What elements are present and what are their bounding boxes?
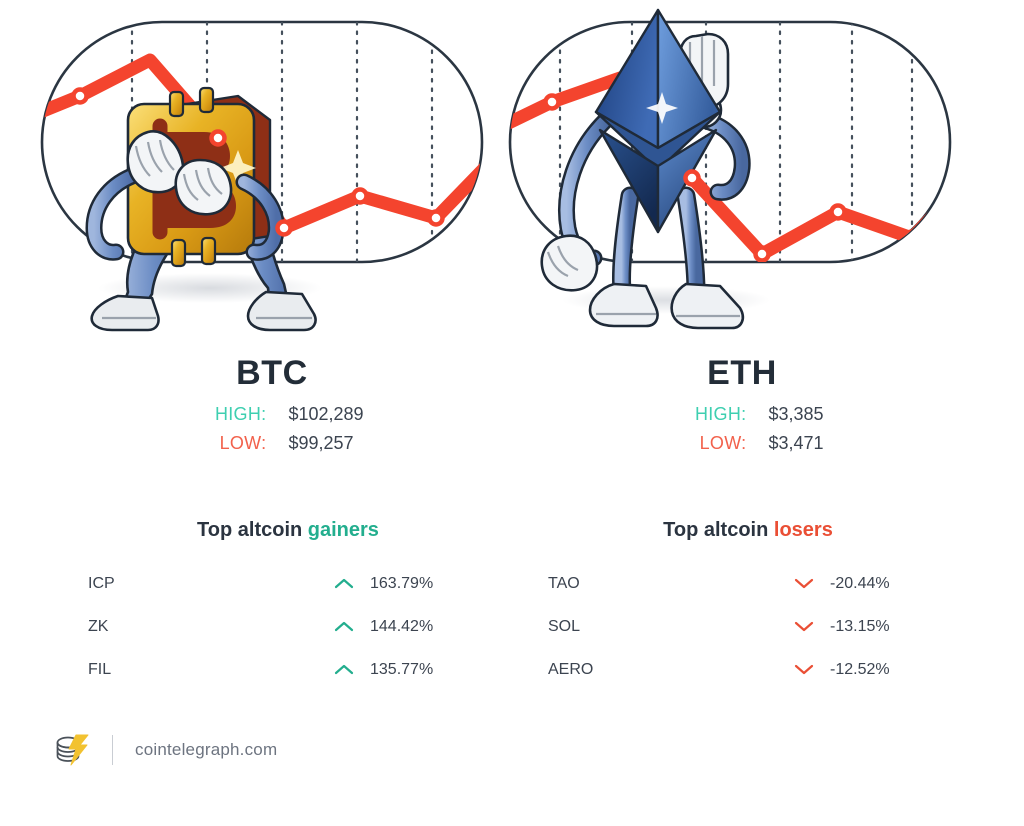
- cointelegraph-logo-icon[interactable]: [52, 732, 92, 768]
- gainer-change: 135.77%: [370, 661, 488, 679]
- loser-change: -13.15%: [830, 618, 948, 636]
- gainers-list: ICP 163.79% ZK 144.42%: [88, 562, 488, 691]
- list-item[interactable]: FIL 135.77%: [88, 648, 488, 691]
- chevron-up-icon: [318, 663, 370, 676]
- btc-low-value: $99,257: [266, 433, 353, 454]
- loser-change: -20.44%: [830, 575, 948, 593]
- altcoin-row: Top altcoin gainers ICP 163.79% ZK: [0, 520, 1024, 700]
- eth-chart-svg: [500, 0, 960, 352]
- gainers-heading-accent: gainers: [308, 519, 379, 541]
- top-altcoin-gainers: Top altcoin gainers ICP 163.79% ZK: [88, 520, 488, 691]
- btc-chart-svg: [32, 0, 492, 352]
- footer-url[interactable]: cointelegraph.com: [135, 740, 277, 760]
- btc-low-row: LOW: $99,257: [180, 433, 363, 462]
- loser-ticker: SOL: [548, 618, 778, 636]
- btc-low-label: LOW:: [180, 433, 266, 454]
- gainer-ticker: FIL: [88, 661, 318, 679]
- eth-high-label: HIGH:: [660, 404, 746, 425]
- btc-high-value: $102,289: [266, 404, 363, 425]
- list-item[interactable]: ICP 163.79%: [88, 562, 488, 605]
- list-item[interactable]: ZK 144.42%: [88, 605, 488, 648]
- gainers-heading: Top altcoin gainers: [88, 520, 488, 540]
- coin-summary-row: BTC HIGH: $102,289 LOW: $99,257 ETH HIGH…: [0, 356, 1024, 486]
- btc-high-label: HIGH:: [180, 404, 266, 425]
- btc-high-row: HIGH: $102,289: [180, 404, 363, 433]
- top-altcoin-losers: Top altcoin losers TAO -20.44% SOL: [548, 520, 948, 691]
- infographic-page: BTC HIGH: $102,289 LOW: $99,257 ETH HIGH…: [0, 0, 1024, 826]
- eth-high-low-table: HIGH: $3,385 LOW: $3,471: [660, 404, 823, 462]
- footer-divider: [112, 735, 113, 765]
- eth-low-value: $3,471: [746, 433, 823, 454]
- chevron-up-icon: [318, 620, 370, 633]
- eth-high-value: $3,385: [746, 404, 823, 425]
- eth-low-label: LOW:: [660, 433, 746, 454]
- list-item[interactable]: SOL -13.15%: [548, 605, 948, 648]
- eth-high-row: HIGH: $3,385: [660, 404, 823, 433]
- chevron-down-icon: [778, 577, 830, 590]
- eth-summary: ETH HIGH: $3,385 LOW: $3,471: [512, 356, 972, 462]
- eth-chart-panel: [500, 0, 960, 352]
- charts-row: [0, 0, 1024, 352]
- gainer-ticker: ICP: [88, 575, 318, 593]
- losers-list: TAO -20.44% SOL -13.15%: [548, 562, 948, 691]
- gainer-ticker: ZK: [88, 618, 318, 636]
- gainer-change: 144.42%: [370, 618, 488, 636]
- btc-chart-panel: [32, 0, 492, 352]
- chevron-down-icon: [778, 620, 830, 633]
- losers-heading-accent: losers: [774, 519, 833, 541]
- loser-change: -12.52%: [830, 661, 948, 679]
- chevron-up-icon: [318, 577, 370, 590]
- btc-high-low-table: HIGH: $102,289 LOW: $99,257: [180, 404, 363, 462]
- losers-heading: Top altcoin losers: [548, 520, 948, 540]
- btc-title: BTC: [42, 356, 502, 390]
- list-item[interactable]: AERO -12.52%: [548, 648, 948, 691]
- btc-summary: BTC HIGH: $102,289 LOW: $99,257: [42, 356, 502, 462]
- gainer-change: 163.79%: [370, 575, 488, 593]
- loser-ticker: TAO: [548, 575, 778, 593]
- losers-heading-prefix: Top altcoin: [663, 519, 774, 541]
- list-item[interactable]: TAO -20.44%: [548, 562, 948, 605]
- footer: cointelegraph.com: [52, 728, 277, 772]
- eth-title: ETH: [512, 356, 972, 390]
- chevron-down-icon: [778, 663, 830, 676]
- eth-low-row: LOW: $3,471: [660, 433, 823, 462]
- gainers-heading-prefix: Top altcoin: [197, 519, 308, 541]
- loser-ticker: AERO: [548, 661, 778, 679]
